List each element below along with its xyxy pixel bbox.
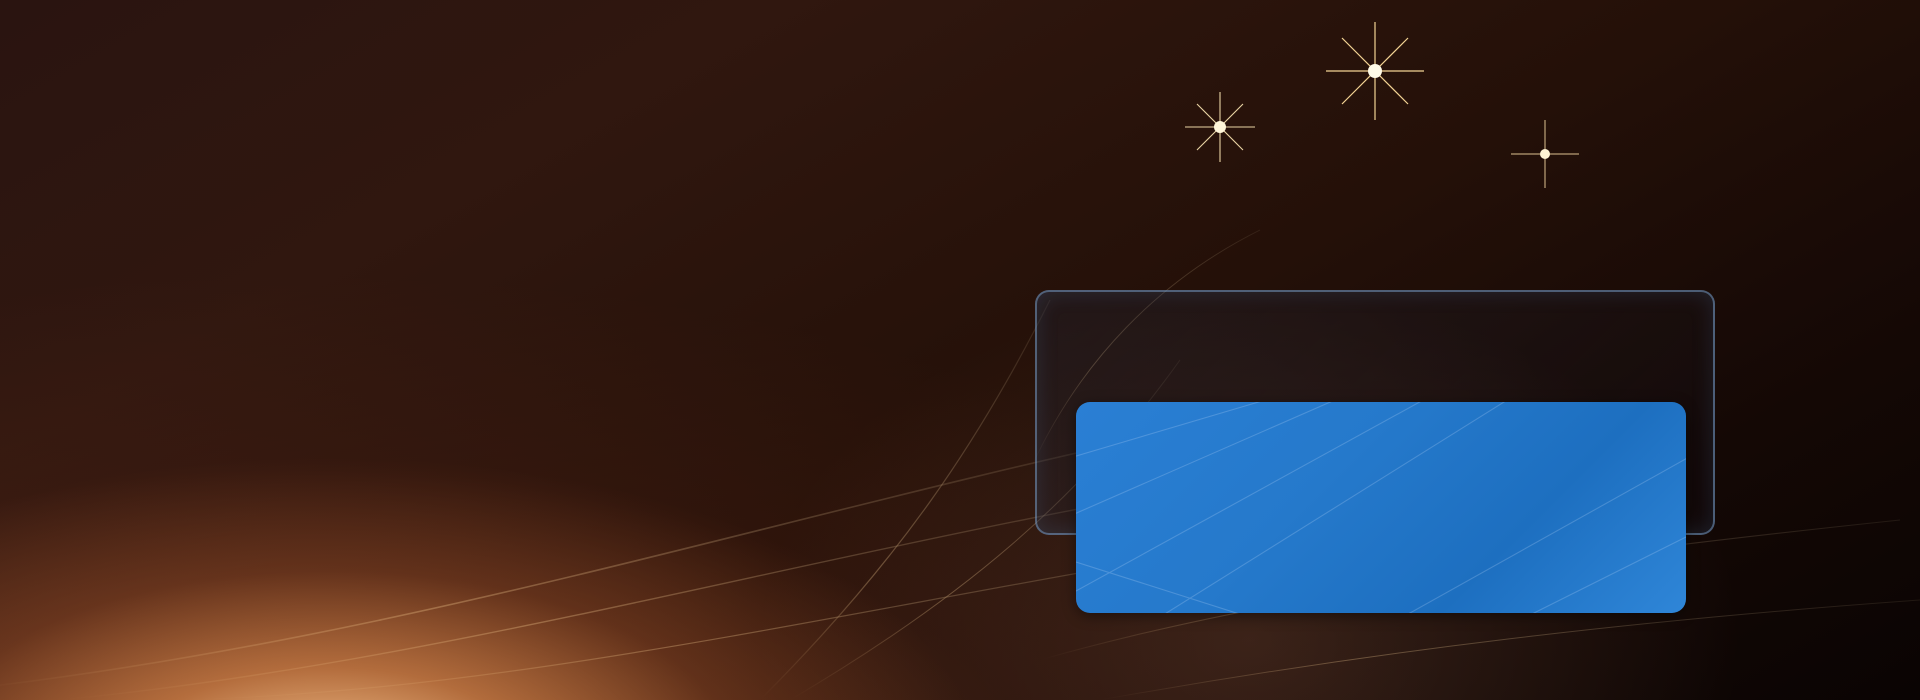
country-photo-grid [128, 14, 760, 588]
description-textbox [1076, 402, 1686, 613]
sparkle-icon [1175, 82, 1265, 172]
sparkle-icon [1505, 114, 1585, 194]
headline-calligraphy [1025, 4, 1645, 219]
sparkle-icon [1320, 16, 1430, 126]
promotional-banner [0, 0, 1920, 700]
textbox-line-decoration [1076, 402, 1686, 613]
